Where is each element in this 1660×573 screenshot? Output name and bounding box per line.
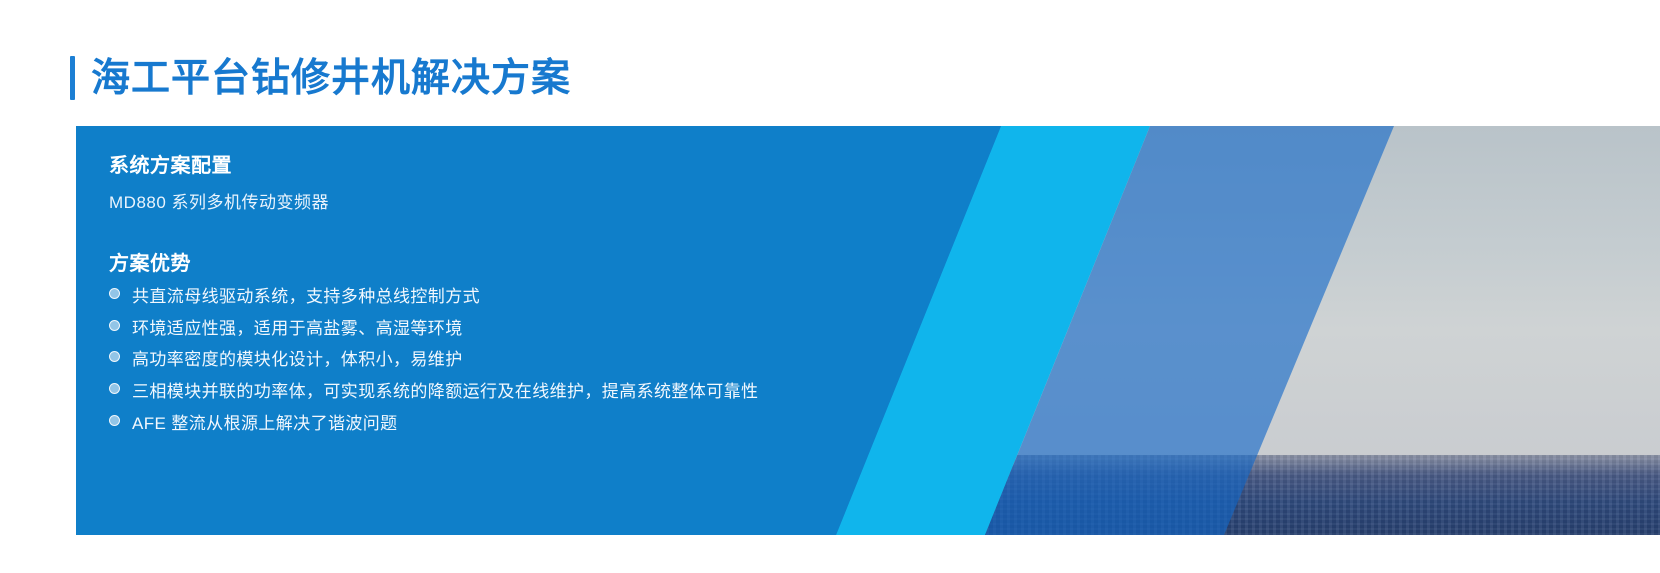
bullet-icon	[109, 320, 120, 331]
bullet-icon	[109, 288, 120, 299]
config-product: MD880 系列多机传动变频器	[109, 188, 939, 213]
page-title-row: 海工平台钻修井机解决方案	[70, 52, 571, 104]
solution-card: 系统方案配置 MD880 系列多机传动变频器 方案优势 共直流母线驱动系统，支持…	[76, 126, 1660, 535]
advantages-heading: 方案优势	[109, 247, 939, 276]
list-item: 共直流母线驱动系统，支持多种总线控制方式	[109, 288, 939, 307]
list-item-label: 共直流母线驱动系统，支持多种总线控制方式	[132, 288, 480, 307]
list-item: 高功率密度的模块化设计，体积小，易维护	[109, 351, 939, 370]
config-heading: 系统方案配置	[109, 149, 939, 178]
bullet-icon	[109, 415, 120, 426]
list-item: AFE 整流从根源上解决了谐波问题	[109, 415, 939, 434]
bullet-icon	[109, 383, 120, 394]
list-item-label: 环境适应性强，适用于高盐雾、高湿等环境	[132, 320, 463, 339]
advantages-list: 共直流母线驱动系统，支持多种总线控制方式 环境适应性强，适用于高盐雾、高湿等环境…	[109, 288, 939, 433]
bullet-icon	[109, 351, 120, 362]
list-item-label: AFE 整流从根源上解决了谐波问题	[132, 415, 398, 434]
card-content: 系统方案配置 MD880 系列多机传动变频器 方案优势 共直流母线驱动系统，支持…	[109, 149, 939, 446]
list-item-label: 高功率密度的模块化设计，体积小，易维护	[132, 351, 463, 370]
title-accent-bar	[70, 56, 75, 100]
page-title: 海工平台钻修井机解决方案	[91, 59, 571, 98]
list-item-label: 三相模块并联的功率体，可实现系统的降额运行及在线维护，提高系统整体可靠性	[132, 383, 758, 402]
list-item: 环境适应性强，适用于高盐雾、高湿等环境	[109, 320, 939, 339]
list-item: 三相模块并联的功率体，可实现系统的降额运行及在线维护，提高系统整体可靠性	[109, 383, 939, 402]
